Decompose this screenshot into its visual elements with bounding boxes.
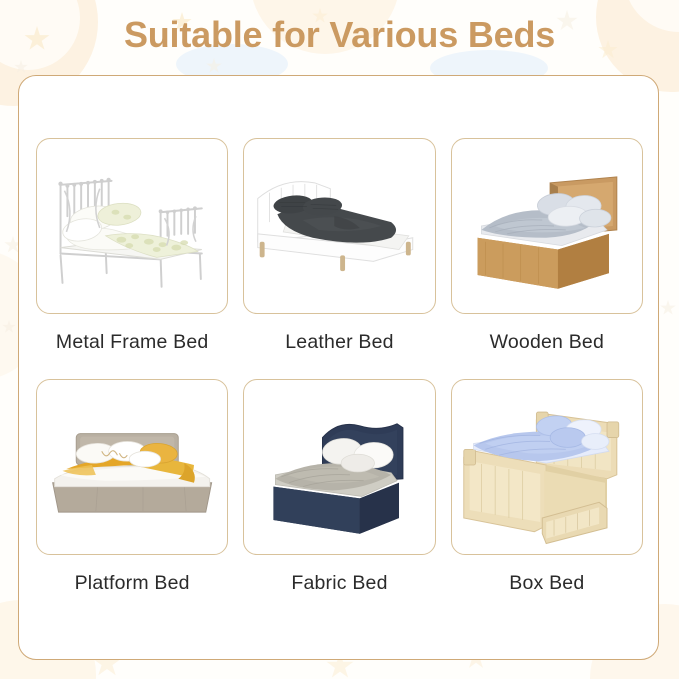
star-right-mid bbox=[660, 300, 676, 316]
star-top-mid bbox=[206, 58, 222, 74]
bed-label-leather: Leather Bed bbox=[243, 331, 435, 354]
leather-bed-photo bbox=[244, 139, 434, 313]
beds-panel: Metal Frame Bed bbox=[18, 75, 659, 660]
metal-frame-bed-photo bbox=[37, 139, 227, 313]
bed-label-wooden: Wooden Bed bbox=[451, 331, 643, 354]
platform-bed-photo bbox=[37, 380, 227, 554]
bed-item-leather[interactable]: Leather Bed bbox=[243, 138, 435, 354]
bed-thumbnail-wooden[interactable] bbox=[451, 138, 643, 314]
bed-label-fabric: Fabric Bed bbox=[243, 572, 435, 595]
wooden-bed-photo bbox=[452, 139, 642, 313]
bed-thumbnail-metal-frame[interactable] bbox=[36, 138, 228, 314]
bed-thumbnail-platform[interactable] bbox=[36, 379, 228, 555]
fabric-bed-photo bbox=[244, 380, 434, 554]
bed-item-platform[interactable]: Platform Bed bbox=[36, 379, 228, 595]
bed-item-metal-frame[interactable]: Metal Frame Bed bbox=[36, 138, 228, 354]
box-bed-photo bbox=[452, 380, 642, 554]
bed-label-metal-frame: Metal Frame Bed bbox=[36, 331, 228, 354]
bed-item-box[interactable]: Box Bed bbox=[451, 379, 643, 595]
promo-page: Suitable for Various Beds bbox=[0, 0, 679, 679]
bed-thumbnail-leather[interactable] bbox=[243, 138, 435, 314]
bed-label-box: Box Bed bbox=[451, 572, 643, 595]
bed-label-platform: Platform Bed bbox=[36, 572, 228, 595]
star-top-left-small bbox=[14, 60, 28, 74]
bed-item-wooden[interactable]: Wooden Bed bbox=[451, 138, 643, 354]
page-title: Suitable for Various Beds bbox=[0, 14, 679, 56]
bed-thumbnail-box[interactable] bbox=[451, 379, 643, 555]
star-left-lower bbox=[2, 320, 16, 334]
bed-item-fabric[interactable]: Fabric Bed bbox=[243, 379, 435, 595]
beds-grid: Metal Frame Bed bbox=[36, 138, 643, 595]
bed-thumbnail-fabric[interactable] bbox=[243, 379, 435, 555]
